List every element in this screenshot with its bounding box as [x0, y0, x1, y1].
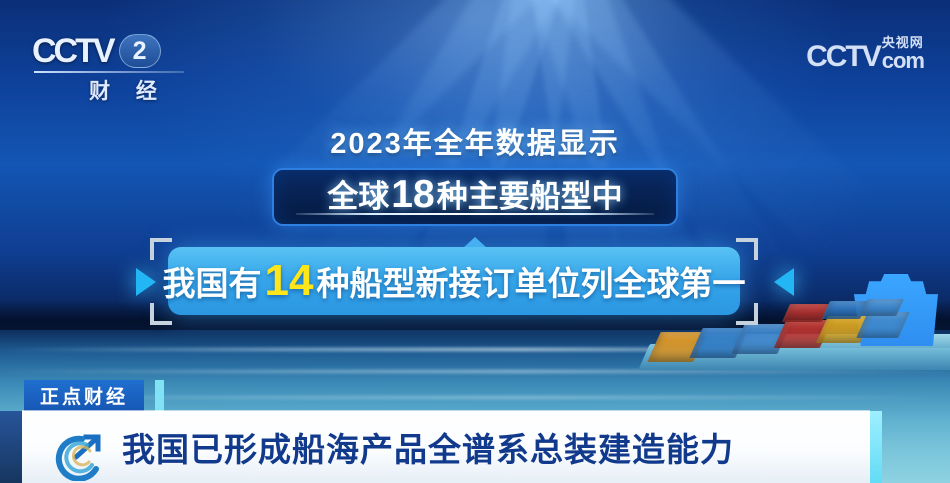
lower-third-left-edge [0, 411, 22, 483]
cargo-container [860, 299, 904, 316]
corner-bracket-bottom-left-icon [150, 303, 172, 325]
stat2-number: 14 [262, 256, 317, 305]
program-name-label: 正点财经 [40, 382, 128, 409]
lower-third-banner: 我国已形成船海产品全谱系总装建造能力 [22, 411, 870, 483]
kicker-text: 2023年全年数据显示 [0, 120, 950, 162]
cctvcom-watermark: CCTV 央视网 com [806, 36, 924, 72]
cctv2-divider [34, 71, 184, 73]
corner-bracket-top-right-icon [736, 238, 758, 260]
cctvcom-wordmark: CCTV [806, 42, 880, 72]
cargo-container [782, 304, 830, 322]
stat1-number: 18 [389, 173, 436, 216]
program-tab-accent-bar [155, 380, 164, 411]
arrow-right-pointing-icon [136, 268, 156, 296]
stat2-suffix: 种船型新接订单位列全球第一 [316, 265, 745, 302]
arrow-left-pointing-icon [774, 268, 794, 296]
stat-box-primary-underline [296, 213, 654, 215]
stat-box-primary: 全球18种主要船型中 [272, 168, 678, 226]
stat-box-secondary: 我国有14种船型新接订单位列全球第一 [168, 247, 740, 315]
stat1-suffix: 种主要船型中 [437, 179, 623, 214]
broadcast-graphic-stage: CCTV 2 财 经 CCTV 央视网 com 2023年全年数据显示 全球18… [0, 0, 950, 483]
cctv2-wordmark: CCTV [32, 34, 113, 68]
cctv2-number: 2 [119, 34, 161, 68]
stat-box-secondary-text: 我国有14种船型新接订单位列全球第一 [163, 256, 746, 306]
stat2-prefix: 我国有 [163, 265, 262, 302]
cargo-container [822, 301, 868, 319]
stat-box-primary-text: 全球18种主要船型中 [327, 171, 622, 217]
cctv2-subtitle: 财 经 [32, 75, 212, 105]
rising-arrow-swoosh-icon [52, 429, 104, 481]
cctv2-channel-logo: CCTV 2 财 经 [32, 34, 212, 105]
cctvcom-domain: com [882, 50, 924, 72]
stat1-prefix: 全球 [327, 179, 389, 214]
corner-bracket-top-left-icon [150, 238, 172, 260]
lower-third-accent-bar [870, 411, 882, 483]
corner-bracket-bottom-right-icon [736, 303, 758, 325]
program-name-tab: 正点财经 [24, 380, 144, 411]
lower-third-headline: 我国已形成船海产品全谱系总装建造能力 [122, 411, 734, 483]
